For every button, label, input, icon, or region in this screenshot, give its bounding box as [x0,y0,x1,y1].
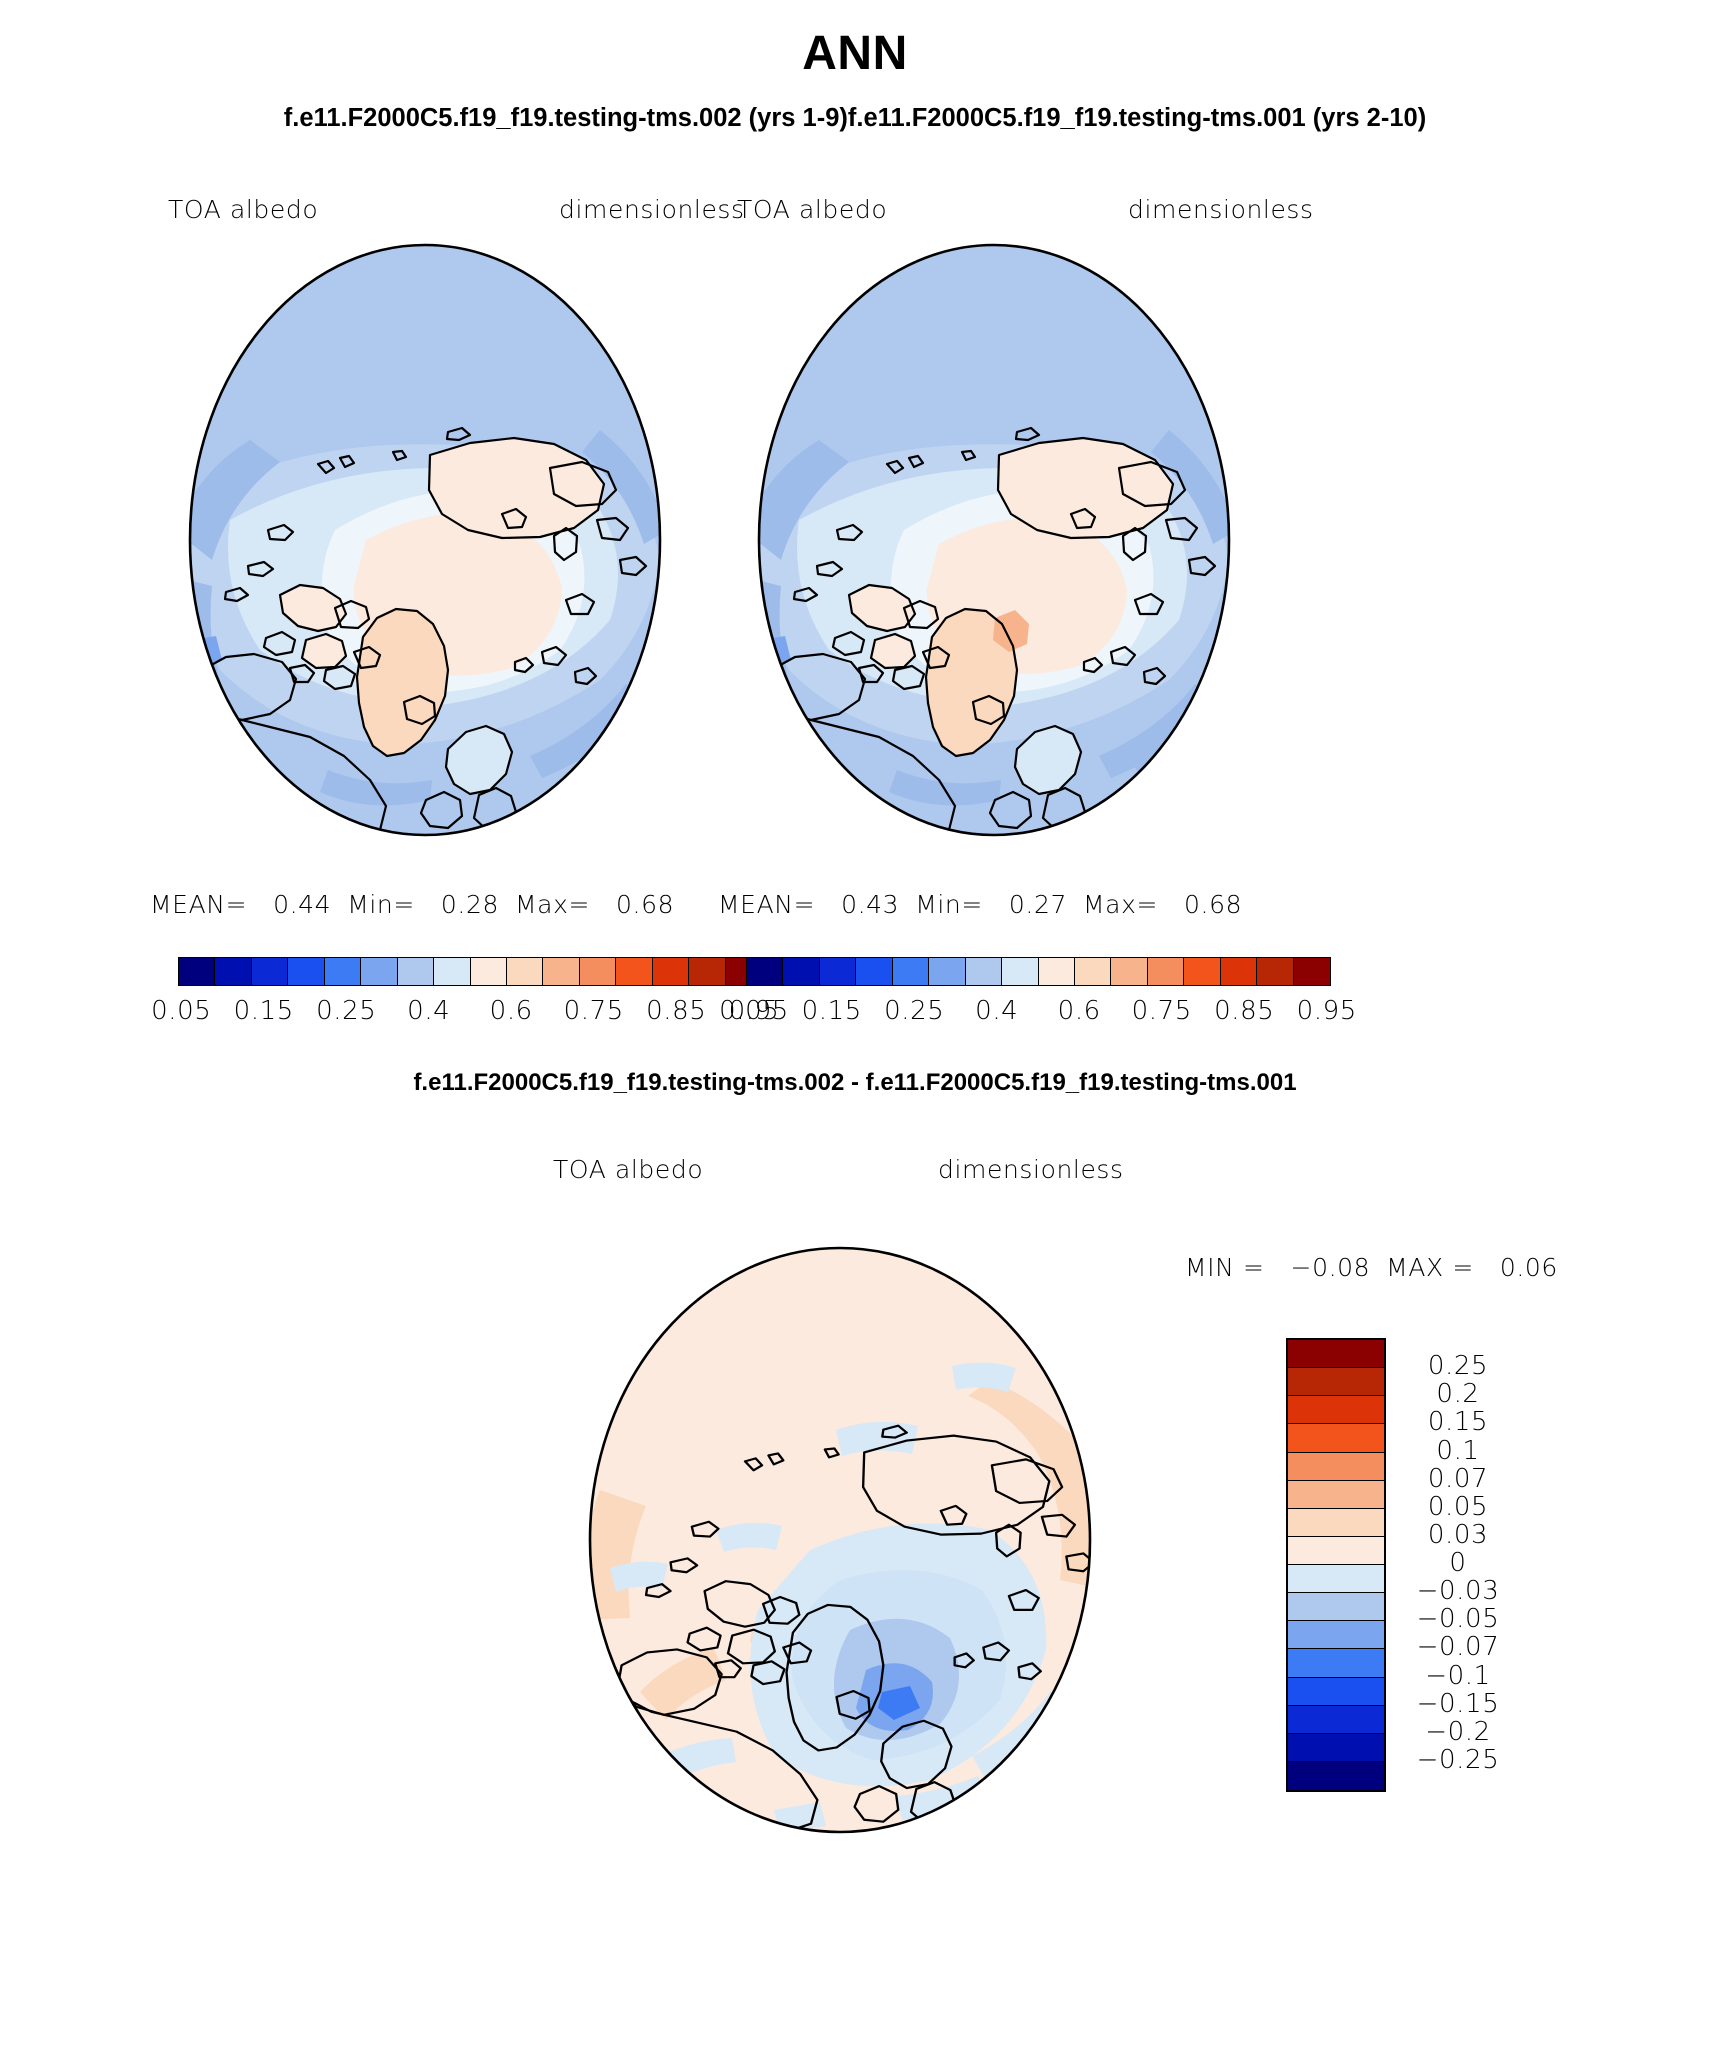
colorbar-tick-label: 0.15 [791,996,874,1026]
colorbar-swatch [1288,1424,1384,1452]
panel2-min-value: 0.27 [1009,890,1067,919]
colorbar-swatch [361,958,397,985]
colorbar-tick-label: 0.4 [388,996,471,1026]
colorbar-swatch [1288,1706,1384,1734]
polar-map-difference [520,1200,1160,1880]
panel3-min-value: −0.08 [1291,1253,1371,1282]
panel1-max-value: 0.68 [616,890,674,919]
colorbar-swatch [1288,1762,1384,1790]
colorbar-swatch [1221,958,1257,985]
colorbar-tick-label: 0.85 [635,996,718,1026]
colorbar-panel2-labels: 0.050.150.250.40.60.750.850.95 [708,996,1368,1026]
colorbar-tick-label: 0.25 [873,996,956,1026]
colorbar-swatch [1294,958,1330,985]
panel1-max-key: Max= [515,890,590,919]
colorbar-tick-label: 0.15 [1398,1407,1518,1437]
colorbar-tick-label: 0.25 [305,996,388,1026]
colorbar-swatch [543,958,579,985]
polar-map-case-002 [130,200,720,880]
colorbar-difference [1286,1338,1386,1792]
colorbar-swatch [252,958,288,985]
colorbar-swatch [325,958,361,985]
colorbar-swatch [1288,1340,1384,1368]
panel1-min-value: 0.28 [441,890,499,919]
colorbar-swatch [1288,1396,1384,1424]
colorbar-swatch [1288,1734,1384,1762]
colorbar-swatch [179,958,215,985]
panel3-min-key: MIN = [1185,1253,1265,1282]
colorbar-tick-label: 0.6 [470,996,553,1026]
colorbar-swatch [1288,1593,1384,1621]
colorbar-swatch [1288,1621,1384,1649]
colorbar-tick-label: 0.85 [1203,996,1286,1026]
diagnostics-page: ANN f.e11.F2000C5.f19_f19.testing-tms.00… [0,0,1710,2061]
panel1-mean-value: 0.44 [273,890,331,919]
colorbar-tick-label: 0.03 [1398,1520,1518,1550]
panel3-variable-label: TOA albedo [553,1155,703,1184]
colorbar-tick-label: −0.15 [1398,1689,1518,1719]
panel3-minmax: MIN =−0.08MAX =0.06 [1185,1253,1558,1282]
colorbar-swatch [434,958,470,985]
panel3-max-key: MAX = [1386,1253,1474,1282]
case-subtitle: f.e11.F2000C5.f19_f19.testing-tms.002 (y… [0,104,1710,133]
colorbar-swatch [1111,958,1147,985]
panel3-max-value: 0.06 [1500,1253,1558,1282]
colorbar-swatch [1288,1565,1384,1593]
colorbar-tick-label: 0.05 [140,996,223,1026]
colorbar-tick-label: 0.75 [1121,996,1204,1026]
colorbar-swatch [966,958,1002,985]
colorbar-swatch [507,958,543,985]
colorbar-swatch [398,958,434,985]
panel3-units-label: dimensionless [938,1155,1124,1184]
colorbar-tick-label: 0.25 [1398,1351,1518,1381]
colorbar-tick-label: −0.2 [1398,1717,1518,1747]
colorbar-swatch [856,958,892,985]
panel2-mean-key: MEAN= [718,890,815,919]
panel1-stats: MEAN=0.44Min=0.28Max=0.68 [150,890,674,919]
colorbar-difference-labels: 0.250.20.150.10.070.050.030−0.03−0.05−0.… [1398,1338,1518,1788]
colorbar-swatch [1288,1649,1384,1677]
colorbar-tick-label: 0.2 [1398,1379,1518,1409]
colorbar-tick-label: 0.4 [956,996,1039,1026]
colorbar-swatch [215,958,251,985]
colorbar-swatch [1039,958,1075,985]
colorbar-swatch [1288,1678,1384,1706]
panel2-max-key: Max= [1083,890,1158,919]
colorbar-tick-label: 0.1 [1398,1436,1518,1466]
colorbar-panel2 [746,957,1331,986]
colorbar-tick-label: −0.25 [1398,1745,1518,1775]
colorbar-tick-label: 0.75 [553,996,636,1026]
colorbar-swatch [689,958,725,985]
panel2-stats: MEAN=0.43Min=0.27Max=0.68 [718,890,1242,919]
colorbar-tick-label: 0.05 [708,996,791,1026]
colorbar-swatch [1075,958,1111,985]
colorbar-swatch [653,958,689,985]
page-title: ANN [0,26,1710,81]
colorbar-swatch [616,958,652,985]
colorbar-tick-label: −0.05 [1398,1604,1518,1634]
colorbar-tick-label: 0.95 [1286,996,1369,1026]
colorbar-swatch [1288,1509,1384,1537]
colorbar-swatch [929,958,965,985]
colorbar-swatch [1148,958,1184,985]
colorbar-tick-label: −0.1 [1398,1661,1518,1691]
panel1-mean-key: MEAN= [150,890,247,919]
colorbar-swatch [1184,958,1220,985]
colorbar-tick-label: −0.07 [1398,1632,1518,1662]
colorbar-tick-label: 0.6 [1038,996,1121,1026]
polar-map-case-001 [699,200,1289,880]
colorbar-swatch [1288,1537,1384,1565]
colorbar-swatch [893,958,929,985]
colorbar-tick-label: 0.05 [1398,1492,1518,1522]
colorbar-panel1-labels: 0.050.150.250.40.60.750.850.95 [140,996,800,1026]
colorbar-swatch [1288,1368,1384,1396]
colorbar-swatch [288,958,324,985]
panel2-min-key: Min= [915,890,983,919]
difference-title: f.e11.F2000C5.f19_f19.testing-tms.002 - … [0,1069,1710,1097]
case-subtitle-left: f.e11.F2000C5.f19_f19.testing-tms.002 (y… [284,104,848,132]
panel2-max-value: 0.68 [1184,890,1242,919]
colorbar-swatch [1288,1481,1384,1509]
colorbar-swatch [580,958,616,985]
colorbar-swatch [820,958,856,985]
colorbar-panel1 [178,957,763,986]
colorbar-swatch [1288,1453,1384,1481]
colorbar-tick-label: 0 [1398,1548,1518,1578]
colorbar-swatch [747,958,783,985]
colorbar-tick-label: 0.07 [1398,1464,1518,1494]
colorbar-tick-label: −0.03 [1398,1576,1518,1606]
colorbar-swatch [1257,958,1293,985]
case-subtitle-right: f.e11.F2000C5.f19_f19.testing-tms.001 (y… [848,104,1426,132]
colorbar-swatch [1002,958,1038,985]
colorbar-swatch [783,958,819,985]
colorbar-tick-label: 0.15 [223,996,306,1026]
panel1-min-key: Min= [347,890,415,919]
panel2-mean-value: 0.43 [841,890,899,919]
colorbar-swatch [471,958,507,985]
